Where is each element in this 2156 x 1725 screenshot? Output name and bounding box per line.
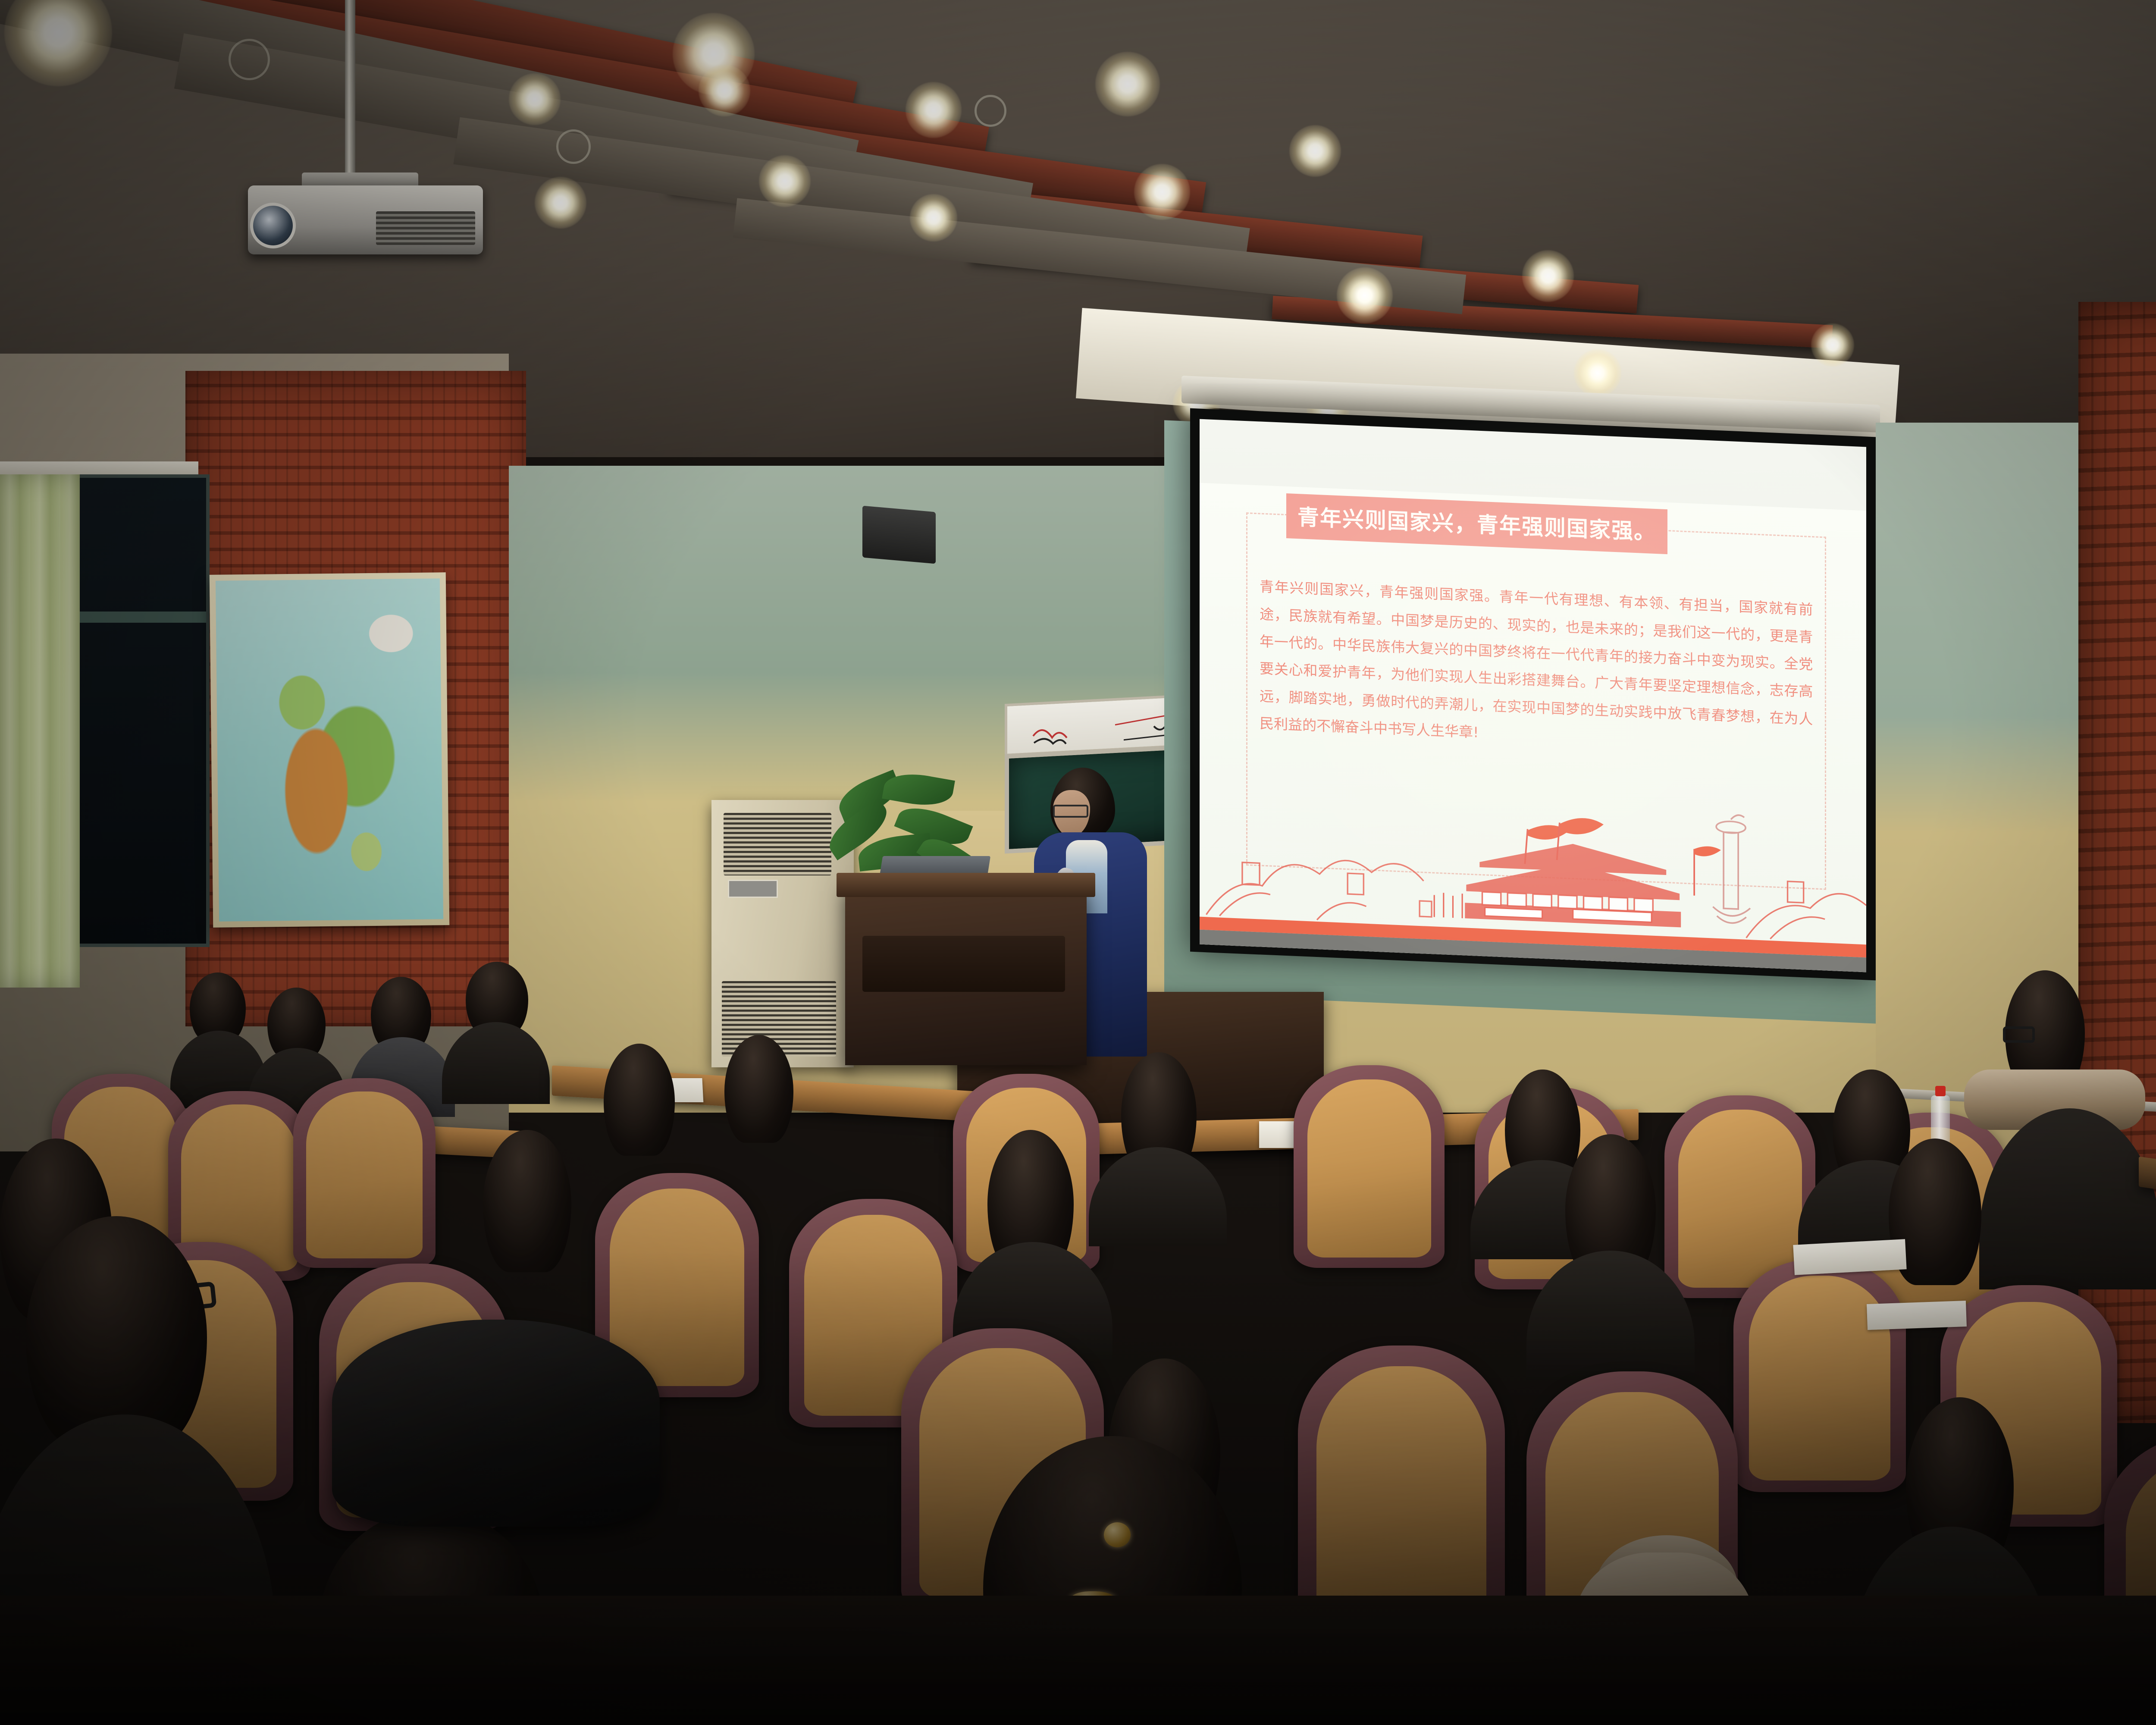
floor: [0, 1596, 2156, 1725]
ceiling-spotlight: [1095, 52, 1160, 116]
audience-head-foreground: [26, 1216, 207, 1449]
ac-control-panel[interactable]: [728, 880, 778, 898]
ceiling-spotlight: [759, 155, 811, 207]
audience-head: [604, 1044, 675, 1156]
ceiling-spotlight: [509, 73, 561, 125]
spotlight-ring: [975, 95, 1006, 127]
window: [73, 474, 210, 947]
audience-head: [483, 1130, 571, 1272]
seat-back-wood: [1316, 1366, 1486, 1624]
ceiling-spotlight: [1337, 267, 1393, 323]
water-bottle[interactable]: [1931, 1095, 1950, 1143]
spotlight-ring: [229, 39, 270, 80]
ceiling-spotlight: [535, 177, 586, 229]
ceiling-spotlight: [1134, 164, 1190, 220]
ac-top-vent: [724, 813, 831, 875]
projector-lens: [250, 203, 296, 248]
hair-pin: [1104, 1522, 1131, 1547]
projection-screen-surface: 青年兴则国家兴，青年强则国家强。 青年兴则国家兴，青年强则国家强。青年一代有理想…: [1200, 419, 1866, 972]
presenter-glasses: [1053, 805, 1088, 818]
wall-map-frame: [210, 572, 450, 928]
audience-glasses: [2003, 1026, 2035, 1043]
lecture-hall-photo: 青年兴则国家兴，青年强则国家强。 青年兴则国家兴，青年强则国家强。青年一代有理想…: [0, 0, 2156, 1725]
ceiling-spotlight: [1522, 250, 1574, 302]
bag-foreground: [332, 1320, 660, 1527]
ceiling-spotlight: [906, 82, 962, 138]
ceiling-spotlight: [910, 194, 957, 241]
seat[interactable]: [293, 1078, 436, 1268]
north-america-relief-map: [216, 578, 443, 921]
ceiling-spotlight: [1811, 323, 1854, 367]
paper-notes: [1793, 1239, 1906, 1275]
ceiling-spotlight: [1289, 125, 1341, 177]
window-curtain: [0, 474, 80, 988]
presentation-slide: 青年兴则国家兴，青年强则国家强。 青年兴则国家兴，青年强则国家强。青年一代有理想…: [1200, 483, 1866, 972]
seat[interactable]: [1298, 1345, 1505, 1639]
projector-mount-pole: [345, 0, 355, 185]
window-mullion: [77, 612, 206, 623]
audience-shoulders: [1089, 1147, 1227, 1246]
slide-body-text: 青年兴则国家兴，青年强则国家强。青年一代有理想、有本领、有担当，国家就有前途，民…: [1260, 573, 1813, 760]
podium: [845, 884, 1087, 1065]
projector-vent: [376, 211, 475, 245]
seat-back-wood: [306, 1091, 423, 1258]
projection-screen-frame: 青年兴则国家兴，青年强则国家强。 青年兴则国家兴，青年强则国家强。青年一代有理想…: [1190, 408, 1876, 981]
ceiling-spotlight: [1574, 349, 1621, 397]
podium-top-surface: [837, 873, 1095, 897]
ceiling-spotlight: [699, 65, 750, 116]
audience-head: [724, 1035, 793, 1143]
seat[interactable]: [1733, 1259, 1906, 1492]
seat[interactable]: [1294, 1065, 1445, 1268]
wall-speaker: [862, 506, 936, 564]
seat-back-wood: [1307, 1079, 1431, 1258]
paper-notes: [1867, 1301, 1967, 1330]
spotlight-ring: [556, 129, 591, 164]
podium-front-panel: [862, 936, 1065, 992]
